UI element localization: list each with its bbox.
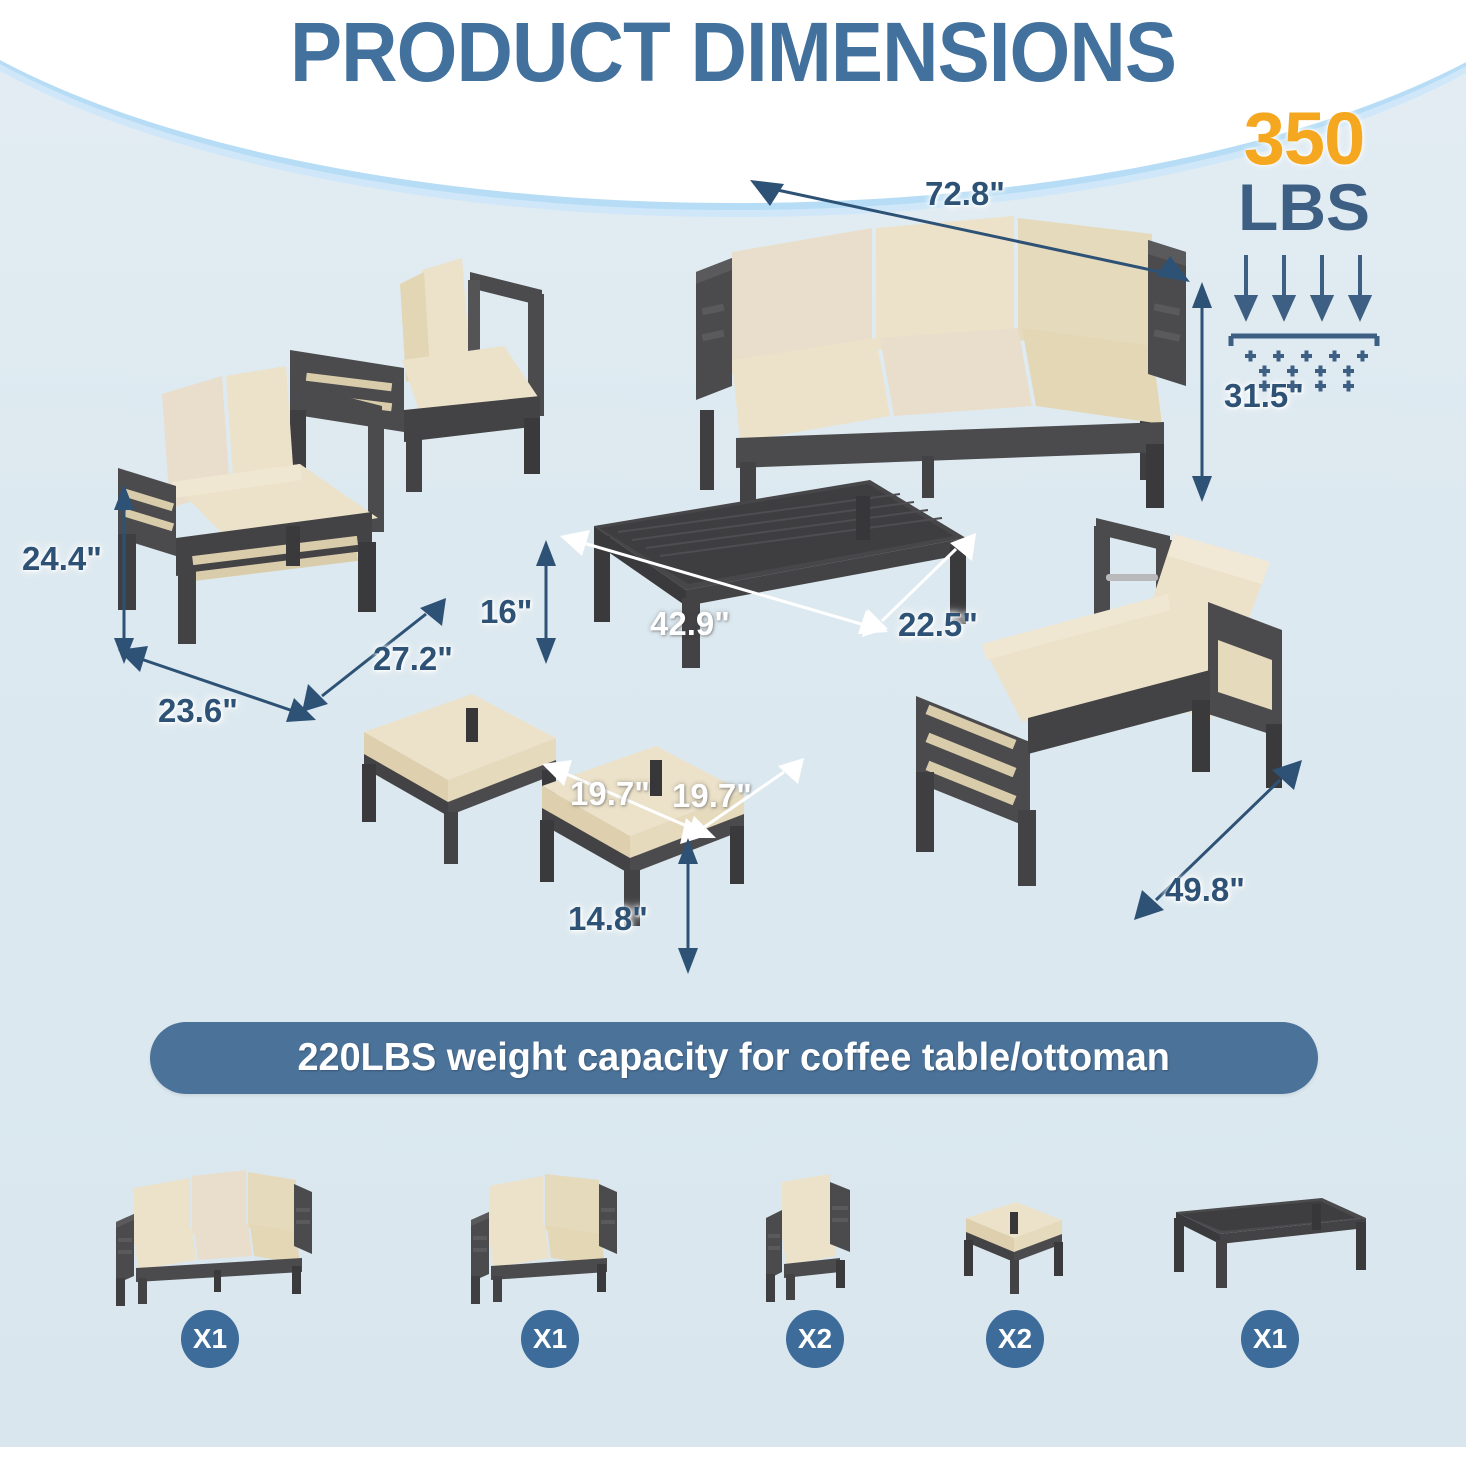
item-loveseat-icon — [410, 1160, 690, 1310]
item-ottoman[interactable]: X2 — [900, 1160, 1130, 1368]
item-qty-badge: X2 — [786, 1310, 844, 1368]
dimension-label-ottoman-width: 19.7" — [570, 775, 650, 813]
item-sofa-3seat-icon — [60, 1160, 360, 1310]
dimension-label-chair-height: 24.4" — [22, 540, 102, 578]
item-coffee-table-icon — [1120, 1160, 1420, 1310]
dimension-label-chair-width: 23.6" — [158, 692, 238, 730]
page-title: PRODUCT DIMENSIONS — [51, 4, 1414, 101]
dimension-label-chair-depth: 27.2" — [373, 640, 453, 678]
dimension-label-table-height: 16" — [480, 593, 532, 631]
item-sofa-3seat[interactable]: X1 — [60, 1160, 360, 1368]
included-items-row: X1 — [0, 1160, 1466, 1460]
item-qty-badge: X1 — [181, 1310, 239, 1368]
dimension-line-ottoman-height — [672, 838, 706, 976]
down-arrows-icon — [1204, 251, 1404, 328]
item-qty-badge: X1 — [1241, 1310, 1299, 1368]
item-armchair[interactable]: X2 — [700, 1160, 930, 1368]
dimension-label-table-depth: 22.5" — [898, 606, 978, 644]
badge-number: 350 — [1204, 104, 1404, 174]
dimension-label-ottoman-height: 14.8" — [568, 900, 648, 938]
item-qty-badge: X1 — [521, 1310, 579, 1368]
weight-capacity-badge: 350 LBS — [1204, 104, 1404, 397]
load-surface-icon — [1204, 330, 1404, 397]
item-coffee-table[interactable]: X1 — [1120, 1160, 1420, 1368]
infographic-canvas: PRODUCT DIMENSIONS 350 LBS — [0, 0, 1466, 1466]
item-loveseat[interactable]: X1 — [410, 1160, 690, 1368]
badge-unit: LBS — [1204, 176, 1404, 239]
capacity-banner-text: 220LBS weight capacity for coffee table/… — [298, 1036, 1170, 1080]
item-qty-badge: X2 — [986, 1310, 1044, 1368]
item-armchair-icon — [700, 1160, 930, 1310]
dimension-label-table-length: 42.9" — [650, 605, 730, 643]
dimension-label-ottoman-depth: 19.7" — [672, 777, 752, 815]
capacity-banner: 220LBS weight capacity for coffee table/… — [150, 1022, 1318, 1094]
item-ottoman-icon — [900, 1160, 1130, 1310]
dimension-label-sofa-width: 72.8" — [925, 175, 1005, 213]
dimension-label-loveseat-length: 49.8" — [1165, 871, 1245, 909]
dimension-line-chair-height — [110, 484, 144, 666]
